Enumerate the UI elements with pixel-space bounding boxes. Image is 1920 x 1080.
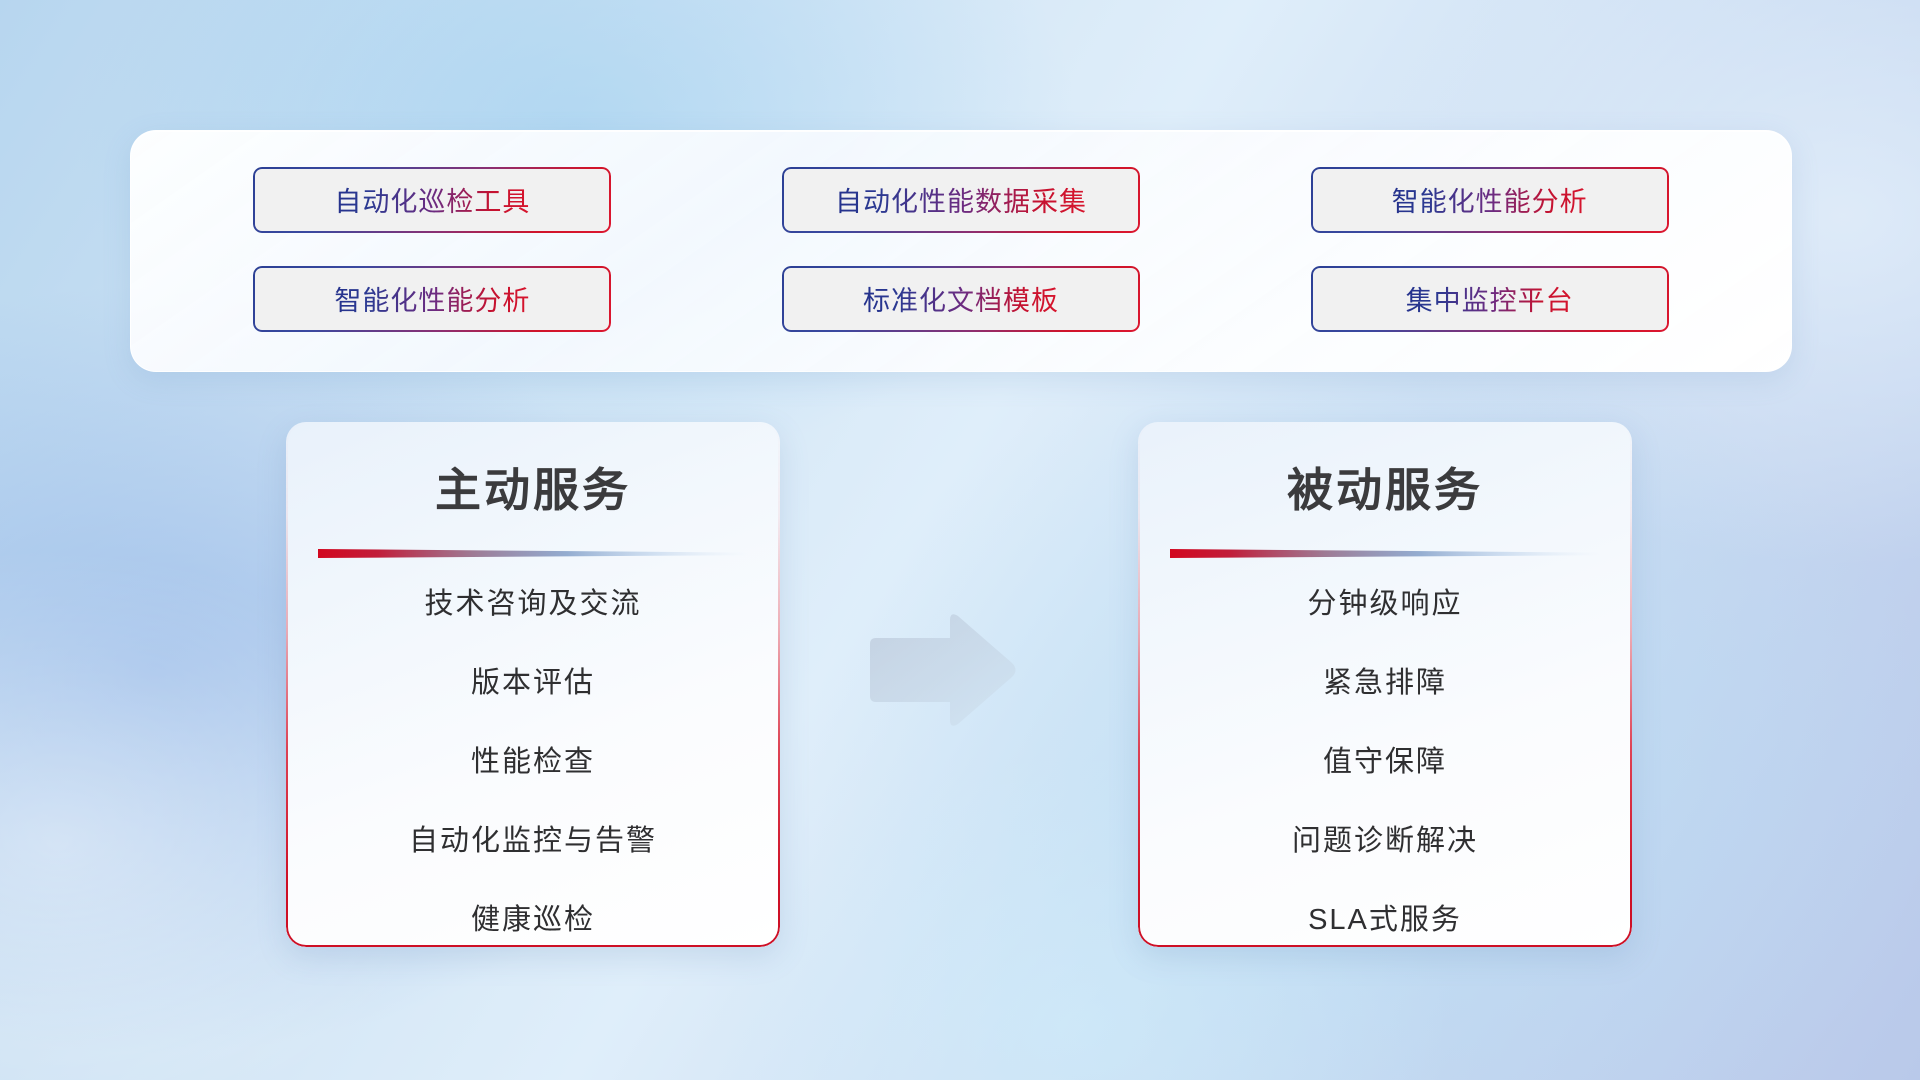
capability-chip-label: 自动化性能数据采集: [835, 180, 1087, 219]
gradient-divider: [318, 547, 748, 560]
service-card-title: 主动服务: [286, 454, 780, 520]
capability-chip-label: 智能化性能分析: [1392, 180, 1588, 219]
service-item-list: 分钟级响应 紧急排障 值守保障 问题诊断解决 SLA式服务: [1138, 590, 1632, 935]
service-item: 问题诊断解决: [1164, 827, 1606, 856]
service-item: 自动化监控与告警: [312, 827, 754, 856]
capability-chip[interactable]: 智能化性能分析: [1311, 167, 1669, 233]
service-item: 健康巡检: [312, 906, 754, 935]
service-item: SLA式服务: [1164, 906, 1606, 935]
service-card-title: 被动服务: [1138, 454, 1632, 520]
capability-chip[interactable]: 自动化巡检工具: [253, 167, 611, 233]
service-item: 版本评估: [312, 669, 754, 698]
diagram-canvas: 自动化巡检工具 自动化性能数据采集 智能化性能分析 智能化性能分析 标准化文档模…: [0, 0, 1920, 1080]
capability-chip[interactable]: 自动化性能数据采集: [782, 167, 1140, 233]
capability-chip[interactable]: 智能化性能分析: [253, 266, 611, 332]
service-item: 值守保障: [1164, 748, 1606, 777]
gradient-divider: [1170, 547, 1600, 560]
service-card-active: 主动服务 技术咨询及交流 版本评估 性能检查 自动化监控与告警 健康巡检: [286, 422, 780, 947]
capability-chip[interactable]: 集中监控平台: [1311, 266, 1669, 332]
service-item-list: 技术咨询及交流 版本评估 性能检查 自动化监控与告警 健康巡检: [286, 590, 780, 935]
capability-chip[interactable]: 标准化文档模板: [782, 266, 1140, 332]
service-card-passive: 被动服务 分钟级响应 紧急排障 值守保障 问题诊断解决 SLA式服务: [1138, 422, 1632, 947]
service-item: 分钟级响应: [1164, 590, 1606, 619]
capability-chip-label: 智能化性能分析: [334, 279, 530, 318]
capability-chip-label: 自动化巡检工具: [334, 180, 530, 219]
service-item: 性能检查: [312, 748, 754, 777]
capability-chip-label: 集中监控平台: [1406, 279, 1574, 318]
capability-chip-label: 标准化文档模板: [863, 279, 1059, 318]
service-item: 技术咨询及交流: [312, 590, 754, 619]
arrow-right-icon: [862, 608, 1022, 732]
capability-panel: 自动化巡检工具 自动化性能数据采集 智能化性能分析 智能化性能分析 标准化文档模…: [130, 130, 1792, 372]
service-item: 紧急排障: [1164, 669, 1606, 698]
